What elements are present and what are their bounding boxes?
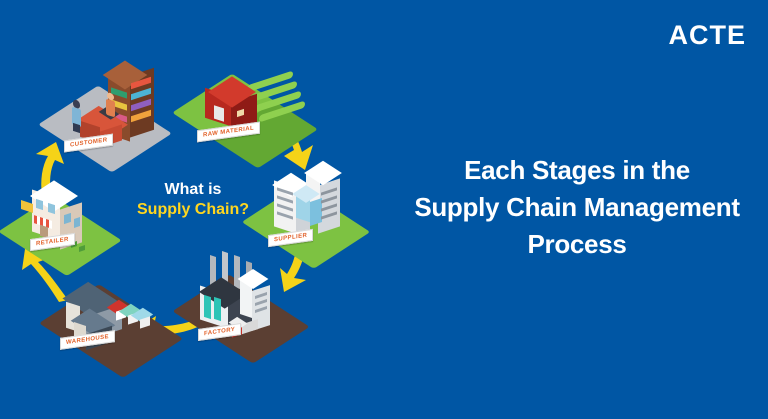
- page-title-line-3: Process: [398, 226, 756, 263]
- page-title: Each Stages in the Supply Chain Manageme…: [398, 152, 756, 263]
- acte-logo: ACTE: [669, 22, 747, 49]
- node-retailer: RETAILER: [8, 172, 118, 264]
- supply-chain-caption: What is Supply Chain?: [112, 180, 274, 219]
- infographic-canvas: ACTE Each Stages in the Supply Chain Man…: [0, 0, 768, 419]
- node-customer: CUSTOMER: [50, 66, 170, 158]
- node-warehouse: WAREHOUSE: [52, 272, 176, 362]
- node-supplier: SUPPLIER: [252, 160, 368, 256]
- node-factory: FACTORY: [182, 250, 306, 348]
- node-raw-material: RAW MATERIAL: [185, 60, 315, 152]
- page-title-line-2: Supply Chain Management: [398, 189, 756, 226]
- page-title-line-1: Each Stages in the: [398, 152, 756, 189]
- caption-line-1: What is: [112, 180, 274, 200]
